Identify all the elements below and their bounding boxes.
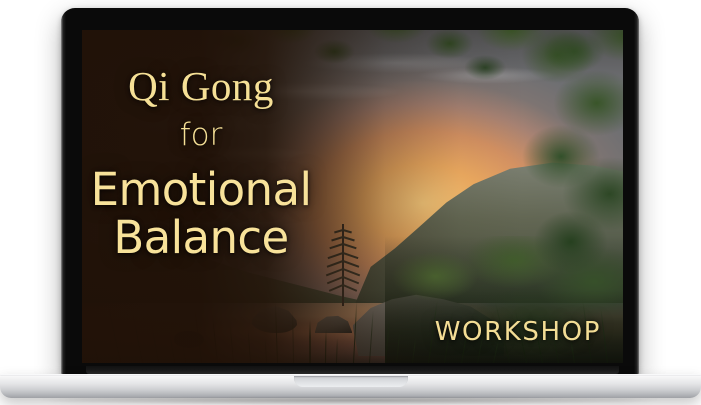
- laptop-hinge: [86, 366, 619, 374]
- title-line-emotional: Emotional: [91, 167, 312, 213]
- slide-title-block: Qi Gong for Emotional Balance: [82, 30, 320, 363]
- laptop-mockup: Qi Gong for Emotional Balance WORKSHOP: [0, 0, 701, 405]
- screenshot-stage: Qi Gong for Emotional Balance WORKSHOP: [0, 0, 701, 405]
- title-line-balance: Balance: [113, 215, 288, 261]
- laptop-drop-shadow: [36, 396, 665, 405]
- title-line-for: for: [180, 120, 223, 151]
- title-line-qi-gong: Qi Gong: [128, 66, 274, 107]
- laptop-base-notch: [294, 376, 408, 387]
- laptop-screen: Qi Gong for Emotional Balance WORKSHOP: [82, 30, 623, 363]
- workshop-badge: WORKSHOP: [435, 317, 601, 347]
